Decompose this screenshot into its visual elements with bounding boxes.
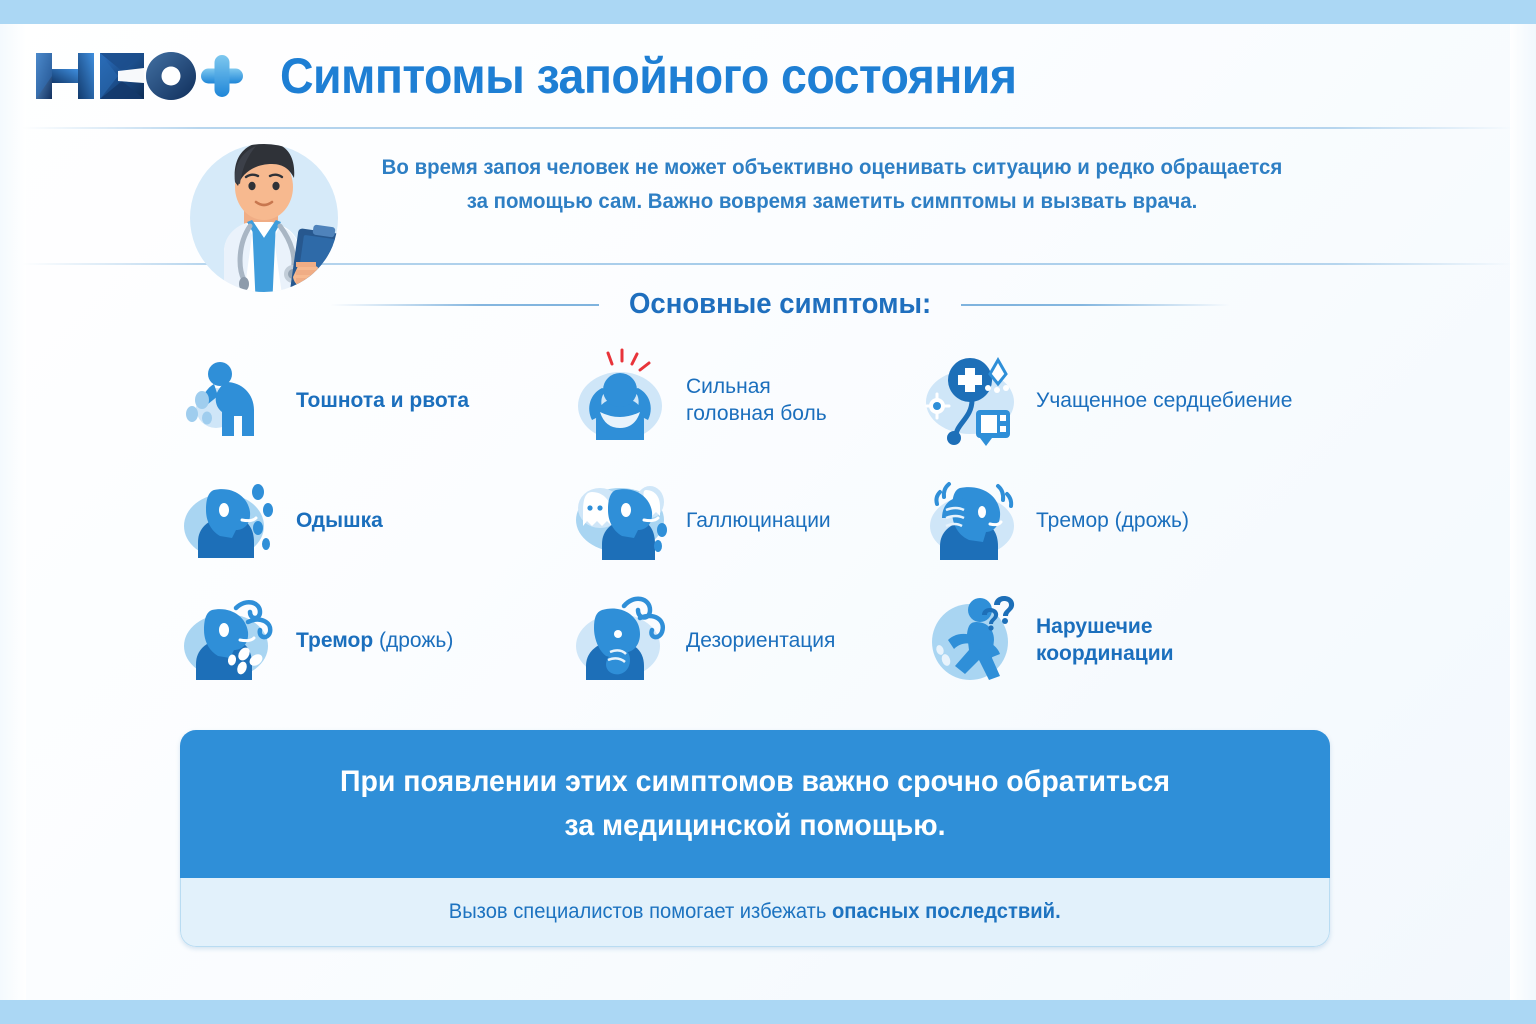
- intro-section: Во время запоя человек не может объектив…: [180, 134, 1360, 244]
- top-band: [0, 0, 1536, 24]
- callout-line-1: При появлении этих симптомов важно срочн…: [266, 760, 1245, 804]
- symptom-item: Тремор (дрожь): [920, 460, 1360, 580]
- hallucination-ghost-icon: [570, 468, 674, 572]
- callout-sub-text: Вызов специалистов помогает избежать опа…: [449, 900, 1061, 924]
- symptom-label: Тремор (дрожь): [296, 627, 453, 654]
- symptom-label: Дезориентация: [686, 627, 835, 654]
- intro-text: Во время запоя человек не может объектив…: [357, 134, 1307, 218]
- right-edge-strip: [1510, 24, 1536, 1000]
- symptom-label: Учащенное сердцебиение: [1036, 387, 1292, 414]
- page-title: Симптомы запойного состояния: [280, 47, 1016, 105]
- left-edge-strip: [0, 24, 26, 1000]
- symptom-item: Галлюцинации: [570, 460, 920, 580]
- symptom-label: Тошнота и рвота: [296, 387, 469, 414]
- heartbeat-monitor-icon: [920, 348, 1024, 452]
- section-heading: Основные симптомы:: [330, 288, 1230, 321]
- symptom-label: Одышка: [296, 507, 383, 534]
- symptom-label: Галлюцинации: [686, 507, 831, 534]
- shortness-of-breath-icon: [180, 468, 284, 572]
- symptom-item: Тремор (дрожь): [180, 580, 570, 700]
- section-heading-text: Основные симптомы:: [629, 288, 931, 321]
- symptom-item: Дезориентация: [570, 580, 920, 700]
- intro-line-1: Во время запоя человек не может объектив…: [382, 155, 1283, 179]
- intro-line-2: за помощью сам. Важно вовремя заметить с…: [357, 184, 1307, 218]
- neo-plus-logo-icon: [34, 48, 244, 104]
- headache-person-icon: [570, 348, 674, 452]
- callout-main: При появлении этих симптомов важно срочн…: [180, 730, 1330, 878]
- disorientation-icon: [570, 588, 674, 692]
- callout-box: При появлении этих симптомов важно срочн…: [180, 730, 1330, 947]
- symptom-item: Одышка: [180, 460, 570, 580]
- heading-rule-left: [330, 304, 599, 306]
- doctor-avatar-icon: [180, 134, 360, 310]
- header-divider: [22, 127, 1514, 129]
- symptoms-grid: Тошнота и рвота: [180, 340, 1360, 700]
- symptom-item: Учащенное сердцебиение: [920, 340, 1360, 460]
- symptom-label: Сильная головная боль: [686, 373, 827, 427]
- symptom-label: Нарушечие координации: [1036, 613, 1174, 667]
- bottom-band: [0, 1000, 1536, 1024]
- coordination-loss-icon: [920, 588, 1024, 692]
- symptom-item: Тошнота и рвота: [180, 340, 570, 460]
- tremor-sweating-icon: [180, 588, 284, 692]
- symptom-label: Тремор (дрожь): [1036, 507, 1189, 534]
- vomiting-person-icon: [180, 348, 284, 452]
- page-header: Симптомы запойного состояния: [0, 24, 1536, 128]
- symptom-item: Нарушечие координации: [920, 580, 1360, 700]
- tremor-head-shake-icon: [920, 468, 1024, 572]
- symptom-item: Сильная головная боль: [570, 340, 920, 460]
- infographic-page: Симптомы запойного состояния: [0, 0, 1536, 1024]
- callout-subtext: Вызов специалистов помогает избежать опа…: [180, 878, 1330, 947]
- callout-line-2: за медицинской помощью.: [266, 804, 1245, 848]
- heading-rule-right: [961, 304, 1230, 306]
